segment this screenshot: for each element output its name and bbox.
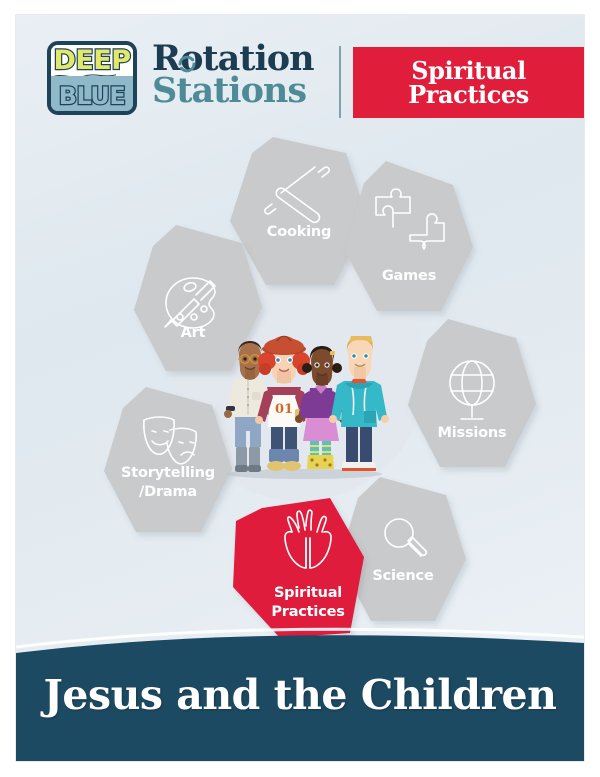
logo-bottom-half: BLUE — [51, 76, 133, 111]
child-boy-hoodie — [329, 336, 389, 471]
four-children-illustration: 01 — [209, 283, 399, 483]
topic-line-1: Spiritual — [411, 59, 526, 83]
segment-label-spiritual-1: Spiritual — [274, 585, 342, 601]
rotation-stations-wordmark: Rotation Stations — [152, 43, 314, 107]
deep-blue-logo: DEEP BLUE — [47, 41, 137, 115]
segment-label-games: Games — [382, 268, 436, 284]
segment-label-storytelling-1: Storytelling — [121, 465, 215, 481]
segment-label-storytelling-2: /Drama — [139, 484, 197, 500]
wordmark-line-stations: Stations — [152, 75, 314, 107]
topic-banner: Spiritual Practices — [353, 47, 584, 118]
rotation-wheel: Cooking Games Missions — [16, 125, 584, 645]
segment-missions[interactable] — [408, 319, 536, 467]
header-divider — [339, 46, 341, 118]
footer-banner: Jesus and the Children — [16, 627, 584, 761]
header: DEEP BLUE Rotation Stations — [16, 15, 584, 125]
segment-label-cooking: Cooking — [267, 224, 331, 240]
topic-line-2: Practices — [408, 83, 529, 107]
circular-arrow-icon — [175, 52, 199, 76]
logo-deep-text: DEEP — [53, 47, 130, 74]
segment-label-art: Art — [181, 325, 206, 341]
svg-text:01: 01 — [275, 402, 293, 417]
segment-label-missions: Missions — [438, 425, 507, 441]
wordmark-line-rotation: Rotation — [152, 43, 314, 75]
poster-page: DEEP BLUE Rotation Stations — [16, 15, 584, 761]
segment-label-science: Science — [372, 568, 434, 584]
footer-title: Jesus and the Children — [16, 671, 584, 719]
logo-blue-text: BLUE — [59, 84, 126, 108]
segment-label-spiritual-2: Practices — [271, 604, 344, 620]
